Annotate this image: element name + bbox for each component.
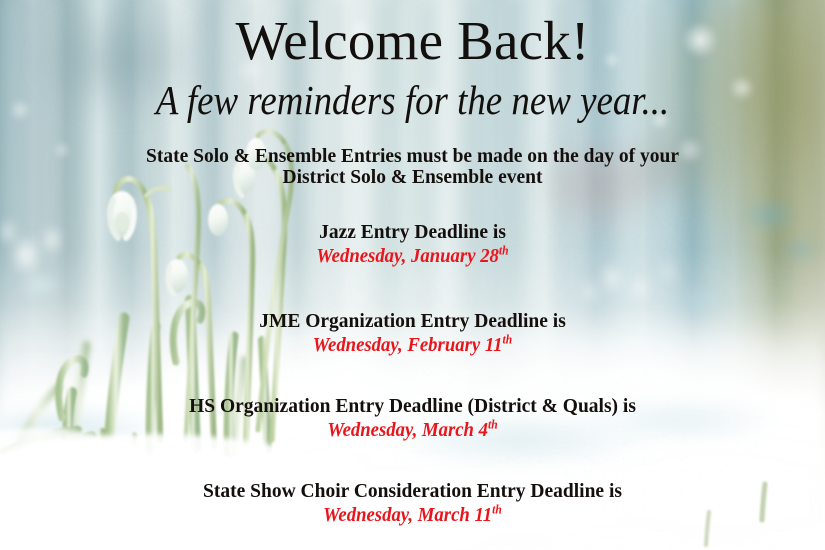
reminders-poster: Welcome Back! A few reminders for the ne… — [0, 0, 825, 550]
deadline-block-jme: JME Organization Entry Deadline is Wedne… — [0, 311, 825, 357]
deadline-date-main: Wednesday, February 11 — [313, 335, 503, 356]
deadline-block-hs: HS Organization Entry Deadline (District… — [0, 396, 825, 442]
notice-line-2: District Solo & Ensemble event — [0, 167, 825, 188]
deadline-date-ordinal: th — [503, 333, 513, 347]
notice-block: State Solo & Ensemble Entries must be ma… — [0, 146, 825, 188]
deadline-date-main: Wednesday, March 11 — [323, 505, 492, 526]
poster-text-content: Welcome Back! A few reminders for the ne… — [0, 0, 825, 550]
page-subtitle: A few reminders for the new year... — [41, 78, 784, 123]
deadline-date-main: Wednesday, March 4 — [327, 420, 488, 441]
page-title: Welcome Back! — [0, 12, 825, 70]
deadline-heading: State Show Choir Consideration Entry Dea… — [0, 481, 825, 502]
deadline-block-show-choir: State Show Choir Consideration Entry Dea… — [0, 481, 825, 527]
deadline-date-ordinal: th — [499, 244, 509, 258]
deadline-date-ordinal: th — [492, 503, 502, 517]
deadline-date-ordinal: th — [488, 418, 498, 432]
deadline-date: Wednesday, March 11th — [17, 505, 809, 527]
deadline-heading: JME Organization Entry Deadline is — [0, 311, 825, 332]
deadline-date: Wednesday, January 28th — [17, 246, 809, 268]
deadline-heading: HS Organization Entry Deadline (District… — [0, 396, 825, 417]
deadline-date: Wednesday, March 4th — [17, 420, 809, 442]
notice-line-1: State Solo & Ensemble Entries must be ma… — [0, 146, 825, 167]
deadline-date: Wednesday, February 11th — [17, 335, 809, 357]
deadline-block-jazz: Jazz Entry Deadline is Wednesday, Januar… — [0, 222, 825, 268]
deadline-date-main: Wednesday, January 28 — [316, 246, 499, 267]
deadline-heading: Jazz Entry Deadline is — [0, 222, 825, 243]
